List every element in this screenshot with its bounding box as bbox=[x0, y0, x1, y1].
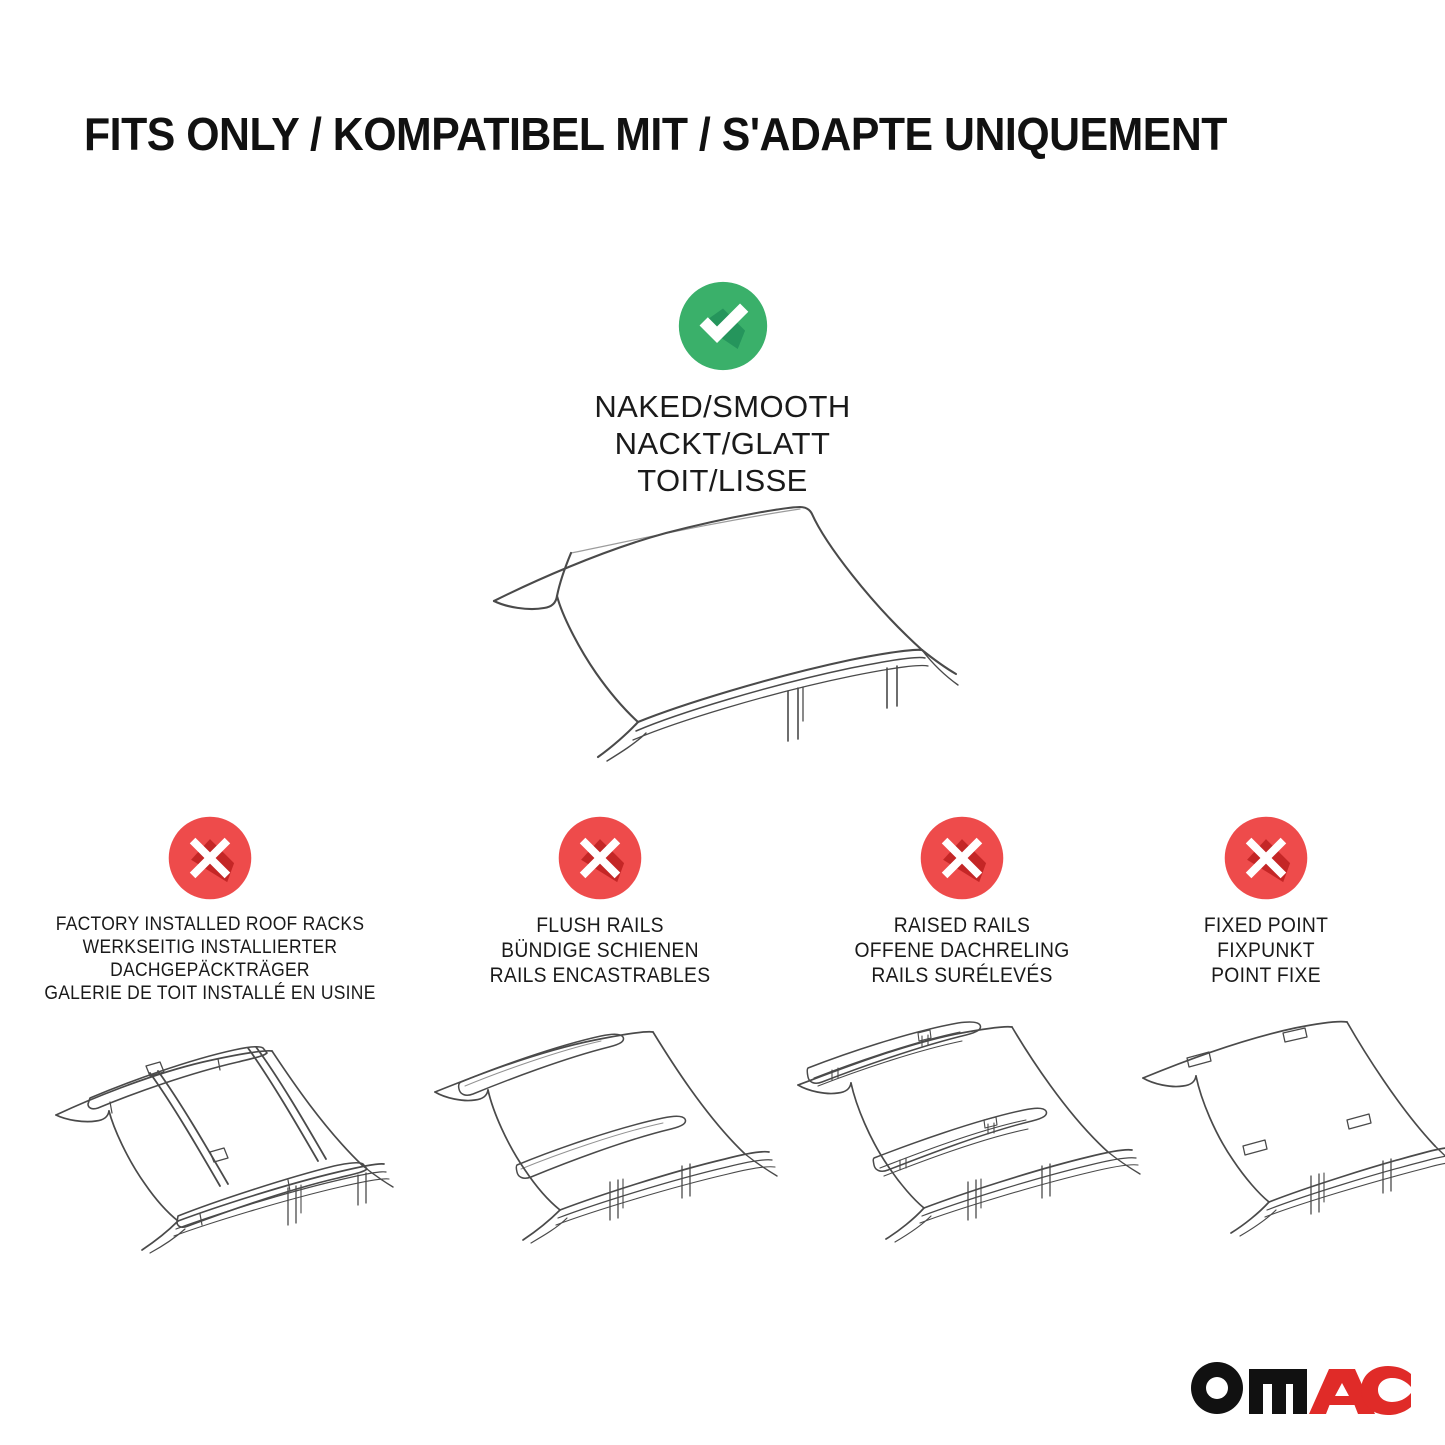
red-x-icon bbox=[1223, 815, 1309, 901]
label-de: FIXPUNKT bbox=[1156, 938, 1377, 963]
compatible-label-fr: TOIT/LISSE bbox=[0, 462, 1445, 499]
compatibility-infographic: FITS ONLY / KOMPATIBEL MIT / S'ADAPTE UN… bbox=[0, 0, 1445, 1445]
label-fr: RAILS ENCASTRABLES bbox=[434, 963, 765, 988]
flush-rails-roof-drawing bbox=[425, 1020, 805, 1255]
logo-letter-o bbox=[1191, 1362, 1243, 1414]
label-fr: GALERIE DE TOIT INSTALLÉ EN USINE bbox=[26, 982, 394, 1005]
page-title: FITS ONLY / KOMPATIBEL MIT / S'ADAPTE UN… bbox=[84, 108, 1293, 160]
fixed-point-roof-drawing bbox=[1135, 1020, 1445, 1255]
omac-logo bbox=[1189, 1357, 1415, 1417]
label-en: RAISED RAILS bbox=[796, 913, 1127, 938]
compatible-labels: NAKED/SMOOTH NACKT/GLATT TOIT/LISSE bbox=[0, 388, 1445, 499]
label-de-line2: DACHGEPÄCKTRÄGER bbox=[26, 959, 394, 982]
label-en: FACTORY INSTALLED ROOF RACKS bbox=[26, 913, 394, 936]
label-de: OFFENE DACHRELING bbox=[796, 938, 1127, 963]
incompatible-labels: FACTORY INSTALLED ROOF RACKS WERKSEITIG … bbox=[26, 913, 394, 1005]
naked-smooth-roof-drawing bbox=[470, 495, 990, 765]
incompatible-labels: FIXED POINT FIXPUNKT POINT FIXE bbox=[1156, 913, 1377, 988]
compatible-label-de: NACKT/GLATT bbox=[0, 425, 1445, 462]
label-en: FLUSH RAILS bbox=[434, 913, 765, 938]
label-de-line1: WERKSEITIG INSTALLIERTER bbox=[26, 936, 394, 959]
compatible-block: NAKED/SMOOTH NACKT/GLATT TOIT/LISSE bbox=[0, 280, 1445, 499]
red-x-icon bbox=[557, 815, 643, 901]
incompatible-item-factory-installed-roof-racks: FACTORY INSTALLED ROOF RACKS WERKSEITIG … bbox=[10, 815, 410, 1005]
red-x-icon bbox=[919, 815, 1005, 901]
compatible-label-en: NAKED/SMOOTH bbox=[0, 388, 1445, 425]
raised-rails-roof-drawing bbox=[788, 1020, 1168, 1255]
label-de: BÜNDIGE SCHIENEN bbox=[434, 938, 765, 963]
incompatible-item-raised-rails: RAISED RAILS OFFENE DACHRELING RAILS SUR… bbox=[782, 815, 1142, 988]
roof-illustrations bbox=[0, 1020, 1445, 1260]
incompatible-item-flush-rails: FLUSH RAILS BÜNDIGE SCHIENEN RAILS ENCAS… bbox=[420, 815, 780, 988]
label-fr: RAILS SURÉLEVÉS bbox=[796, 963, 1127, 988]
red-x-icon bbox=[167, 815, 253, 901]
label-fr: POINT FIXE bbox=[1156, 963, 1377, 988]
factory-roof-rack-drawing bbox=[38, 1020, 428, 1255]
label-en: FIXED POINT bbox=[1156, 913, 1377, 938]
incompatible-labels: FLUSH RAILS BÜNDIGE SCHIENEN RAILS ENCAS… bbox=[434, 913, 765, 988]
green-check-icon bbox=[677, 280, 769, 372]
logo-letter-m bbox=[1249, 1369, 1307, 1414]
incompatible-labels: RAISED RAILS OFFENE DACHRELING RAILS SUR… bbox=[796, 913, 1127, 988]
incompatible-item-fixed-point: FIXED POINT FIXPUNKT POINT FIXE bbox=[1146, 815, 1386, 988]
logo-letter-c bbox=[1361, 1366, 1411, 1415]
